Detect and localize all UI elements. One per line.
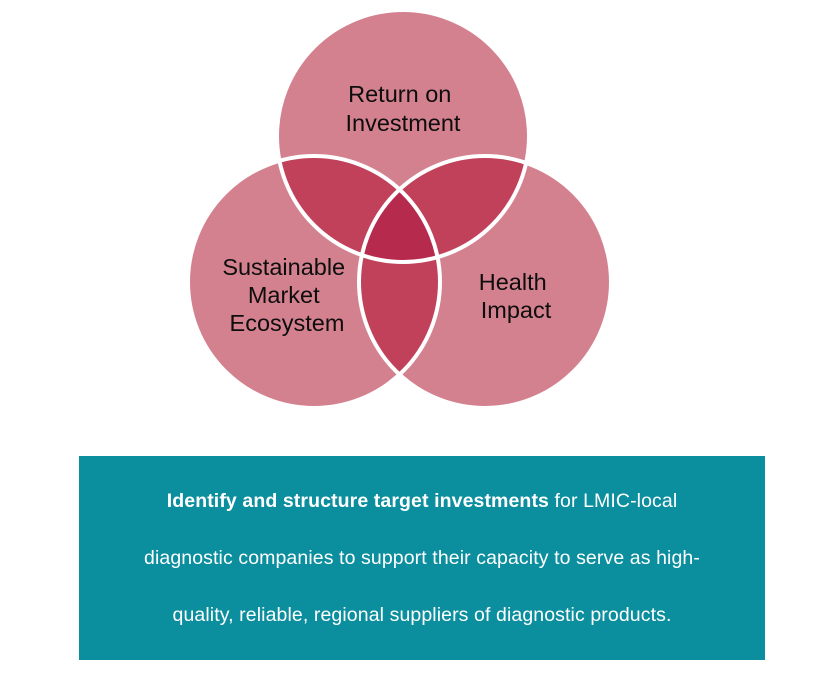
callout-box: Identify and structure target investment… <box>79 456 765 660</box>
callout-text: Identify and structure target investment… <box>92 473 752 644</box>
callout-segment: diagnostic companies to support their ca… <box>144 547 700 569</box>
callout-segment: quality, reliable, regional suppliers of… <box>173 604 672 626</box>
venn-diagram: Return on Investment Sustainable Market … <box>0 0 822 440</box>
callout-segment: for LMIC-local <box>549 490 677 512</box>
venn-label-line: Investment <box>346 110 461 136</box>
venn-label-line: Market <box>248 282 320 308</box>
venn-label-line: Return on <box>348 81 451 107</box>
slide-canvas: Return on Investment Sustainable Market … <box>0 0 822 696</box>
venn-diagram-svg: Return on Investment Sustainable Market … <box>0 0 822 440</box>
venn-label-line: Sustainable <box>222 254 345 280</box>
callout-emphasis: Identify and structure target investment… <box>167 490 549 512</box>
venn-label-line: Health <box>479 269 547 295</box>
venn-label-line: Impact <box>481 297 552 323</box>
venn-label-line: Ecosystem <box>230 310 345 336</box>
